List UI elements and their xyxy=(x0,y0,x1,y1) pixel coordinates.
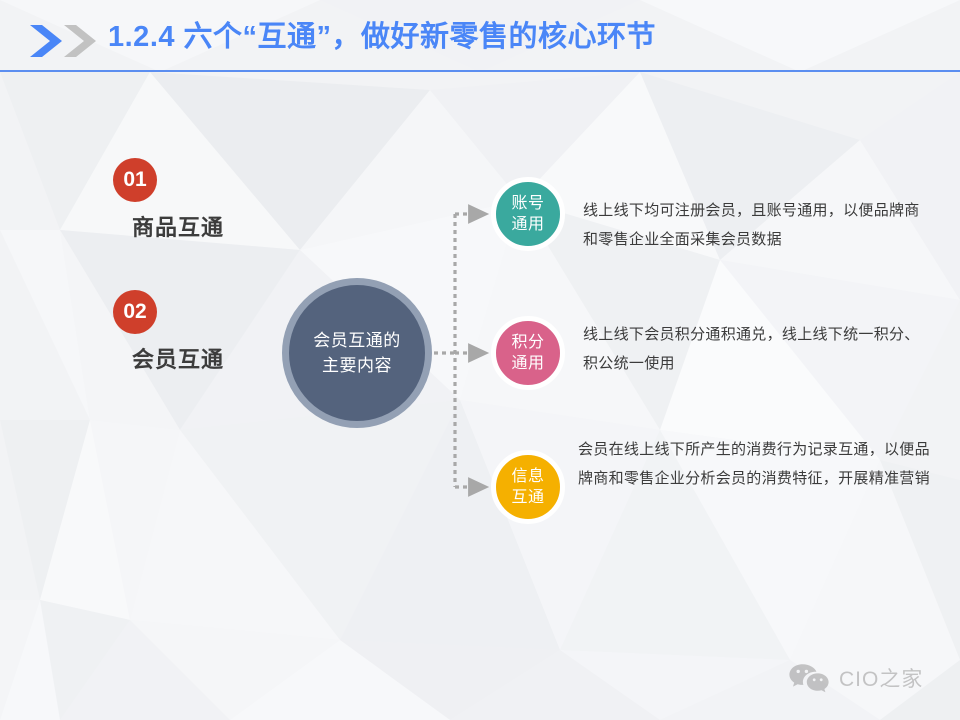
slide-header: 1.2.4 六个“互通”，做好新零售的核心环节 xyxy=(0,0,960,72)
badge-number: 01 xyxy=(113,158,157,202)
node-account-line-1: 账号 xyxy=(511,195,544,212)
center-node: 会员互通的 主要内容 xyxy=(282,278,432,428)
node-information-description: 会员在线上线下所产生的消费行为记录互通，以便品牌商和零售企业分析会员的消费特征，… xyxy=(578,435,938,493)
center-node-line-2: 主要内容 xyxy=(322,356,392,375)
node-points-line-2: 通用 xyxy=(511,355,544,372)
left-item-label-02: 会员互通 xyxy=(132,342,224,374)
node-account-label: 账号 通用 xyxy=(511,193,544,235)
node-account: 账号 通用 xyxy=(491,177,565,251)
node-points-description: 线上线下会员积分通积通兑，线上线下统一积分、积公统一使用 xyxy=(583,320,933,378)
watermark: CIO之家 xyxy=(788,663,923,693)
badge-02: 02 xyxy=(113,290,157,334)
node-information-line-1: 信息 xyxy=(511,468,544,485)
node-points-line-1: 积分 xyxy=(511,334,544,351)
left-item-02: 02 会员互通 xyxy=(113,290,224,374)
badge-01: 01 xyxy=(113,158,157,202)
page-title: 1.2.4 六个“互通”，做好新零售的核心环节 xyxy=(108,20,656,54)
header-divider xyxy=(0,70,960,72)
left-item-01: 01 商品互通 xyxy=(113,158,224,242)
node-account-description: 线上线下均可注册会员，且账号通用，以便品牌商和零售企业全面采集会员数据 xyxy=(583,196,933,254)
node-points-label: 积分 通用 xyxy=(511,332,544,374)
center-node-label: 会员互通的 主要内容 xyxy=(313,328,401,378)
node-points: 积分 通用 xyxy=(491,316,565,390)
slide-canvas: 1.2.4 六个“互通”，做好新零售的核心环节 01 商品互通 02 会员互通 xyxy=(0,0,960,720)
node-information-line-2: 互通 xyxy=(511,489,544,506)
node-account-line-2: 通用 xyxy=(511,216,544,233)
watermark-text: CIO之家 xyxy=(839,663,923,693)
node-information-label: 信息 互通 xyxy=(511,466,544,508)
wechat-icon xyxy=(788,663,830,693)
chevron-right-gray-icon xyxy=(62,24,102,58)
center-node-line-1: 会员互通的 xyxy=(313,331,401,350)
left-item-label-01: 商品互通 xyxy=(132,210,224,242)
badge-number: 02 xyxy=(113,290,157,334)
node-information: 信息 互通 xyxy=(491,450,565,524)
